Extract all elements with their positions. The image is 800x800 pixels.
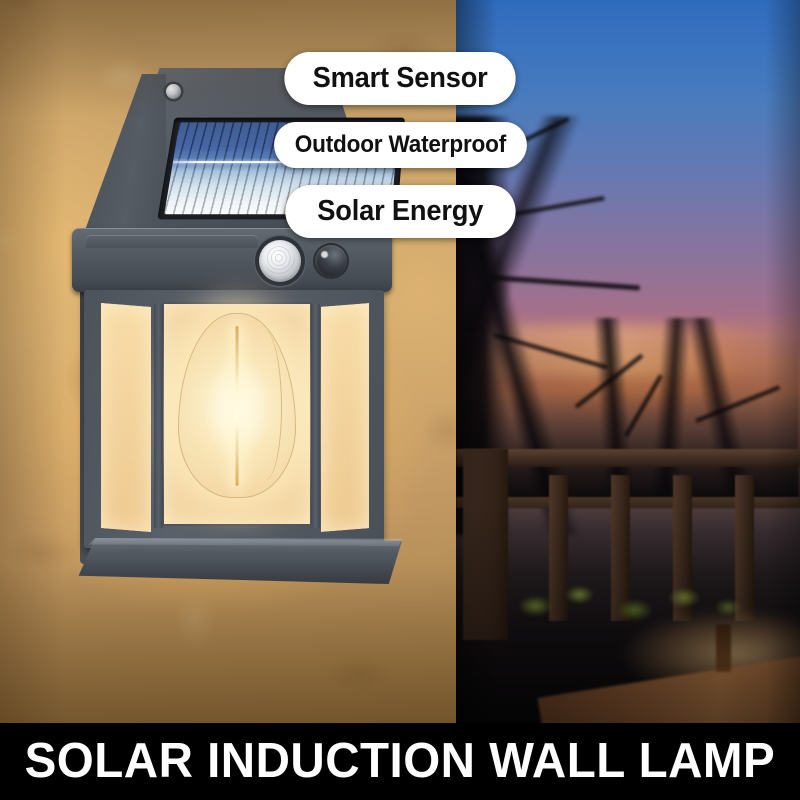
product-title: SOLAR INDUCTION WALL LAMP [25, 737, 776, 786]
feature-badge-smart-sensor[interactable]: Smart Sensor [284, 52, 515, 105]
feature-badge-list: Smart Sensor Outdoor Waterproof Solar En… [0, 52, 800, 238]
bottom-banner: SOLAR INDUCTION WALL LAMP [0, 723, 800, 800]
feature-badge-solar-energy[interactable]: Solar Energy [285, 185, 515, 238]
feature-badge-outdoor-waterproof[interactable]: Outdoor Waterproof [274, 122, 527, 168]
product-marketing-image: Smart Sensor Outdoor Waterproof Solar En… [0, 0, 800, 800]
